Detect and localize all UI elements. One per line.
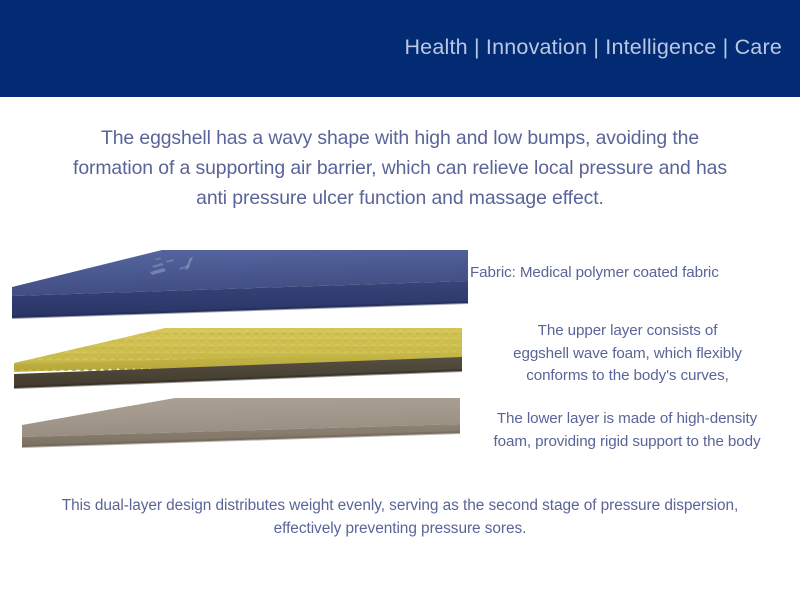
caption-upper-line-3: conforms to the body's curves, — [460, 365, 795, 388]
foam-base-strip — [14, 357, 462, 388]
caption-upper-line-1: The upper layer consists of — [460, 320, 795, 343]
intro-line-1: The eggshell has a wavy shape with high … — [22, 123, 778, 153]
caption-fabric-layer: Fabric: Medical polymer coated fabric — [470, 263, 790, 283]
caption-lower-line-1: The lower layer is made of high-density — [458, 408, 796, 431]
intro-line-2: formation of a supporting air barrier, w… — [22, 153, 778, 183]
caption-upper-line-2: eggshell wave foam, which flexibly — [460, 343, 795, 366]
eggshell-bump-texture — [14, 328, 462, 372]
high-density-foam-layer — [22, 398, 460, 448]
caption-lower-layer: The lower layer is made of high-density … — [458, 408, 796, 453]
eggshell-foam-layer — [14, 328, 462, 389]
header-title: Health | Innovation | Intelligence | Car… — [404, 35, 782, 60]
summary-paragraph: This dual-layer design distributes weigh… — [24, 494, 776, 540]
caption-lower-line-2: foam, providing rigid support to the bod… — [458, 431, 796, 454]
header-band: Health | Innovation | Intelligence | Car… — [0, 0, 800, 97]
caption-fabric-line-1: Fabric: Medical polymer coated fabric — [470, 263, 790, 283]
caption-upper-layer: The upper layer consists of eggshell wav… — [460, 320, 795, 388]
summary-line-2: effectively preventing pressure sores. — [24, 517, 776, 540]
eggshell-wave-edge — [14, 352, 462, 371]
slide-root: Health | Innovation | Intelligence | Car… — [0, 0, 800, 600]
intro-paragraph: The eggshell has a wavy shape with high … — [22, 123, 778, 213]
fabric-logo-watermark — [150, 257, 193, 275]
fabric-cover-layer — [10, 249, 468, 319]
summary-line-1: This dual-layer design distributes weigh… — [24, 494, 776, 517]
intro-line-3: anti pressure ulcer function and massage… — [22, 183, 778, 213]
